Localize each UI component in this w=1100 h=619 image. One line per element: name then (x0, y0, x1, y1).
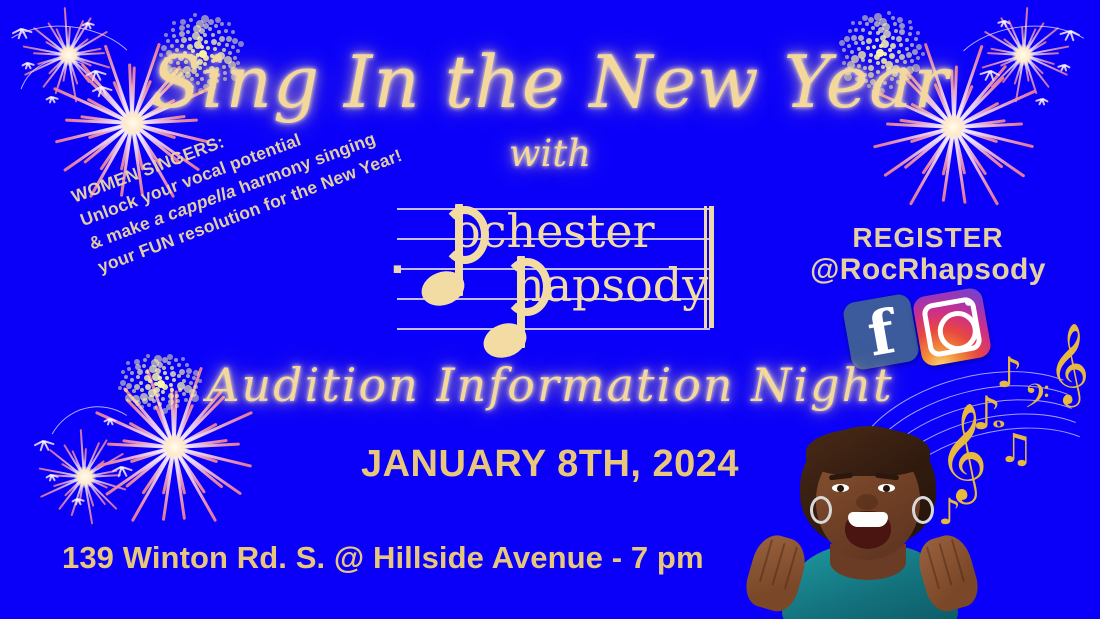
firework-spark-dot (871, 26, 875, 30)
firework-spark-dot (862, 15, 868, 21)
singer-finger-line (784, 547, 798, 590)
register-block: REGISTER @RocRhapsody (806, 222, 1050, 287)
singer-nose (856, 494, 878, 510)
register-heading: REGISTER (806, 222, 1050, 253)
firework-spark-dot (203, 33, 207, 37)
firework-spark-dot (891, 16, 895, 20)
firework-spark-dot (899, 29, 905, 35)
firework-spark-dot (879, 18, 887, 26)
firework-spark-dot (878, 27, 884, 33)
firework-spark-dot (227, 22, 231, 26)
staff-line (397, 328, 710, 330)
firework-spark-dot (164, 33, 168, 37)
firework-spark-dot (897, 17, 903, 23)
logo-word-rochester: ochester (453, 204, 655, 258)
firework-spark-dot (186, 30, 190, 34)
firework-spark-dot (868, 17, 874, 23)
firework-spark-dot (851, 21, 855, 25)
firework-spark-dot (189, 18, 193, 22)
singer-pupil-right (883, 485, 890, 492)
firework-spark-dot (874, 21, 880, 27)
rochester-rhapsody-logo: { ochester hapsody (375, 198, 720, 340)
firework-spark-dot (192, 32, 200, 40)
firework-spark-dot (865, 22, 869, 26)
singer-finger-line (938, 543, 952, 586)
singer-teeth (848, 512, 888, 527)
firework-spark-dot (883, 30, 891, 38)
firework-spark-dot (186, 24, 190, 28)
singer-finger-line (759, 539, 773, 582)
bar-line (709, 206, 714, 328)
firework-spark-dot (894, 29, 898, 33)
singer-pupil-left (837, 485, 844, 492)
bass-clef-icon: 𝄢 (1024, 378, 1050, 424)
singer-earring-left (810, 496, 832, 524)
firework-spark-dot (876, 31, 880, 35)
firework-spark-dot (217, 30, 221, 34)
firework-spark-dot (208, 19, 214, 25)
firework-spark-dot (193, 25, 201, 33)
firework-spark-dot (146, 354, 150, 358)
firework-spark-dot (201, 15, 209, 23)
firework-spark-dot (172, 21, 176, 25)
register-handle: @RocRhapsody (806, 253, 1050, 287)
logo-word-rhapsody: hapsody (515, 258, 708, 312)
singer-finger-line (951, 539, 965, 582)
firework-spark-dot (199, 28, 205, 34)
firework-spark-dot (179, 31, 185, 37)
singer-earring-right (912, 496, 934, 524)
firework-spark-dot (909, 26, 913, 30)
singer-finger-line (926, 547, 940, 590)
firework-spark-dot (899, 23, 905, 29)
firework-spark-dot (180, 19, 186, 25)
firework-spark-dot (220, 22, 224, 26)
firework-spark-dot (908, 32, 912, 36)
firework-spark-dot (193, 13, 197, 17)
treble-clef-icon: 𝄞 (1048, 322, 1089, 405)
firework-spark-dot (211, 33, 215, 37)
firework-spark-dot (215, 17, 221, 23)
firework-spark-dot (854, 28, 858, 32)
firework-spark-dot (882, 23, 890, 31)
firework-spark-dot (858, 21, 862, 25)
firework-spark-dot (179, 25, 185, 31)
firework-spark-dot (874, 13, 882, 21)
firework-spark-dot (848, 29, 852, 33)
singer-hair-fringe (806, 428, 930, 476)
firework-spark-dot (916, 31, 920, 35)
firework-spark-dot (893, 22, 897, 26)
firework-spark-dot (861, 28, 865, 32)
firework-spark-dot (887, 11, 891, 15)
firework-spark-dot (908, 20, 912, 24)
firework-spark-dot (172, 34, 176, 38)
singer-photo (726, 408, 1006, 619)
firework-spark-dot (231, 30, 235, 34)
event-address: 139 Winton Rd. S. @ Hillside Avenue - 7 … (62, 540, 704, 576)
poster-canvas: Sing In the New Year with WOMEN SINGERS:… (0, 0, 1100, 619)
firework-spark-dot (214, 24, 218, 28)
firework-spark-dot (203, 23, 209, 29)
firework-spark-dot (224, 29, 228, 33)
firework-spark-dot (868, 31, 872, 35)
singer-finger-line (771, 543, 785, 586)
firework-spark-dot (208, 27, 212, 31)
page-title: Sing In the New Year (0, 40, 1100, 124)
firework-spark-dot (171, 28, 175, 32)
firework-spark-dot (196, 20, 204, 28)
